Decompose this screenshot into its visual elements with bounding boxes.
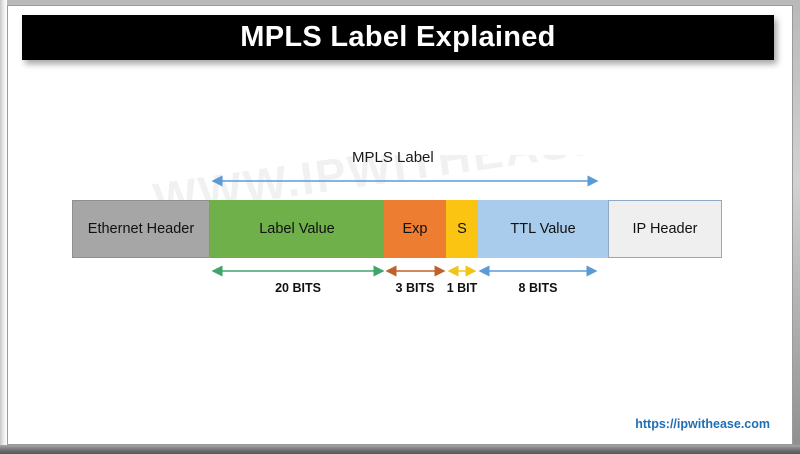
segment-ethernet-header: Ethernet Header [72, 200, 210, 258]
footer-url[interactable]: https://ipwithease.com [635, 417, 770, 431]
packet-field-bar: Ethernet Header Label Value Exp S TTL Va… [72, 200, 722, 258]
segment-label-s: S [457, 221, 467, 237]
segment-label-label-value: Label Value [259, 221, 335, 237]
bits-label-ttl: 8 BITS [488, 281, 588, 295]
segment-label-exp: Exp [403, 221, 428, 237]
slide-canvas: MPLS Label Explained WWW.IPWITHEASE.COM … [0, 0, 800, 454]
mpls-label-diagram: MPLS Label Ethernet Header Label Value E… [0, 0, 800, 454]
segment-ip-header: IP Header [608, 200, 722, 258]
mpls-label-span-caption: MPLS Label [352, 149, 434, 166]
segment-ttl-value: TTL Value [478, 200, 608, 258]
segment-label-value: Label Value [210, 200, 384, 258]
bits-label-label-value: 20 BITS [238, 281, 358, 295]
segment-exp: Exp [384, 200, 446, 258]
bits-label-s: 1 BIT [432, 281, 492, 295]
segment-label-ttl-value: TTL Value [510, 221, 575, 237]
segment-label-ethernet-header: Ethernet Header [88, 221, 194, 237]
segment-label-ip-header: IP Header [632, 221, 697, 237]
segment-s: S [446, 200, 478, 258]
